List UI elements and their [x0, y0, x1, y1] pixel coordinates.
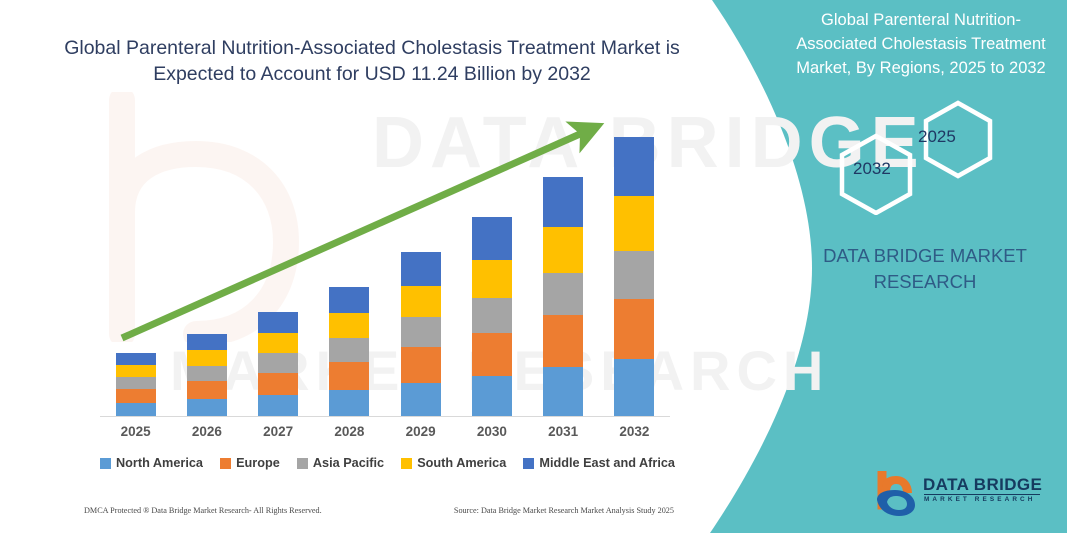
bar-segment-2031-s3[interactable]	[543, 227, 583, 273]
bar-segment-2027-s2[interactable]	[258, 353, 298, 373]
bar-segment-2026-s3[interactable]	[187, 350, 227, 366]
bar-segment-2031-s2[interactable]	[543, 273, 583, 315]
legend-label-2: Asia Pacific	[313, 456, 384, 470]
x-axis-label-2025: 2025	[106, 424, 166, 439]
bar-segment-2032-s0[interactable]	[614, 359, 654, 417]
bar-segment-2025-s3[interactable]	[116, 365, 156, 377]
bar-segment-2027-s1[interactable]	[258, 373, 298, 395]
bar-segment-2030-s2[interactable]	[472, 298, 512, 333]
x-axis-label-2032: 2032	[604, 424, 664, 439]
x-axis-label-2029: 2029	[391, 424, 451, 439]
legend-label-1: Europe	[236, 456, 280, 470]
bar-segment-2032-s2[interactable]	[614, 251, 654, 299]
legend-item-0[interactable]: North America	[100, 456, 203, 470]
logo-wordmark: DATA BRIDGE	[923, 475, 1042, 495]
legend-swatch-3	[401, 458, 412, 469]
bar-segment-2029-s3[interactable]	[401, 286, 441, 317]
page-title: Global Parenteral Nutrition-Associated C…	[62, 35, 682, 87]
bar-segment-2026-s1[interactable]	[187, 381, 227, 399]
side-panel-brand-name: DATA BRIDGE MARKET RESEARCH	[790, 243, 1060, 295]
side-panel-title: Global Parenteral Nutrition-Associated C…	[786, 8, 1056, 80]
bar-segment-2027-s3[interactable]	[258, 333, 298, 353]
bar-segment-2025-s4[interactable]	[116, 353, 156, 365]
bar-2031[interactable]	[543, 177, 583, 417]
footer: DMCA Protected ® Data Bridge Market Rese…	[84, 506, 674, 515]
bar-segment-2032-s4[interactable]	[614, 137, 654, 196]
chart-legend: North AmericaEuropeAsia PacificSouth Ame…	[100, 456, 675, 470]
brand-line-1: DATA BRIDGE MARKET	[790, 243, 1060, 269]
data-bridge-logo: DATA BRIDGE MARKET RESEARCH	[873, 470, 1045, 518]
bar-segment-2028-s1[interactable]	[329, 362, 369, 390]
bar-segment-2032-s3[interactable]	[614, 196, 654, 251]
legend-label-0: North America	[116, 456, 203, 470]
bar-segment-2027-s4[interactable]	[258, 312, 298, 333]
hexagon-year-badges: 2025 2032	[810, 100, 1010, 215]
bar-segment-2025-s1[interactable]	[116, 389, 156, 403]
bar-segment-2031-s1[interactable]	[543, 315, 583, 367]
bar-segment-2030-s1[interactable]	[472, 333, 512, 376]
bar-segment-2029-s2[interactable]	[401, 317, 441, 347]
bar-segment-2030-s0[interactable]	[472, 376, 512, 417]
bar-segment-2031-s0[interactable]	[543, 367, 583, 417]
hexagon-label-start-year: 2025	[918, 127, 956, 147]
legend-item-2[interactable]: Asia Pacific	[297, 456, 384, 470]
bar-2025[interactable]	[116, 353, 156, 417]
bar-2029[interactable]	[401, 252, 441, 417]
x-axis-labels: 20252026202720282029203020312032	[100, 424, 670, 446]
legend-item-1[interactable]: Europe	[220, 456, 280, 470]
bar-2026[interactable]	[187, 334, 227, 417]
bar-segment-2028-s0[interactable]	[329, 390, 369, 417]
chart-baseline	[100, 416, 670, 417]
bar-segment-2029-s0[interactable]	[401, 383, 441, 417]
bar-2027[interactable]	[258, 312, 298, 417]
footer-source: Source: Data Bridge Market Research Mark…	[454, 506, 674, 515]
bar-segment-2027-s0[interactable]	[258, 395, 298, 417]
x-axis-label-2028: 2028	[319, 424, 379, 439]
x-axis-label-2030: 2030	[462, 424, 522, 439]
bar-chart-plot-area	[100, 120, 670, 417]
bar-segment-2026-s4[interactable]	[187, 334, 227, 350]
bar-segment-2029-s4[interactable]	[401, 252, 441, 286]
legend-label-3: South America	[417, 456, 506, 470]
bar-2030[interactable]	[472, 217, 512, 417]
bar-segment-2028-s4[interactable]	[329, 287, 369, 313]
bar-segment-2032-s1[interactable]	[614, 299, 654, 359]
footer-copyright: DMCA Protected ® Data Bridge Market Rese…	[84, 506, 322, 515]
legend-swatch-2	[297, 458, 308, 469]
x-axis-label-2027: 2027	[248, 424, 308, 439]
brand-line-2: RESEARCH	[790, 269, 1060, 295]
bar-segment-2029-s1[interactable]	[401, 347, 441, 383]
legend-swatch-0	[100, 458, 111, 469]
infographic-canvas: DATA BRIDGE MARKET RESEARCH Global Paren…	[0, 0, 1067, 533]
bar-segment-2025-s0[interactable]	[116, 403, 156, 417]
bar-segment-2026-s0[interactable]	[187, 399, 227, 417]
bar-2032[interactable]	[614, 137, 654, 417]
bar-segment-2031-s4[interactable]	[543, 177, 583, 227]
bar-segment-2026-s2[interactable]	[187, 366, 227, 381]
x-axis-label-2026: 2026	[177, 424, 237, 439]
legend-item-4[interactable]: Middle East and Africa	[523, 456, 675, 470]
logo-divider	[924, 494, 1040, 495]
x-axis-label-2031: 2031	[533, 424, 593, 439]
logo-mark-icon	[873, 471, 921, 517]
legend-swatch-1	[220, 458, 231, 469]
bar-segment-2028-s2[interactable]	[329, 338, 369, 362]
bar-segment-2030-s3[interactable]	[472, 260, 512, 298]
legend-item-3[interactable]: South America	[401, 456, 506, 470]
bar-segment-2028-s3[interactable]	[329, 313, 369, 338]
bar-segment-2030-s4[interactable]	[472, 217, 512, 260]
legend-label-4: Middle East and Africa	[539, 456, 675, 470]
bar-segment-2025-s2[interactable]	[116, 377, 156, 389]
hexagon-label-end-year: 2032	[853, 159, 891, 179]
bar-2028[interactable]	[329, 287, 369, 417]
legend-swatch-4	[523, 458, 534, 469]
logo-tagline: MARKET RESEARCH	[924, 496, 1035, 503]
